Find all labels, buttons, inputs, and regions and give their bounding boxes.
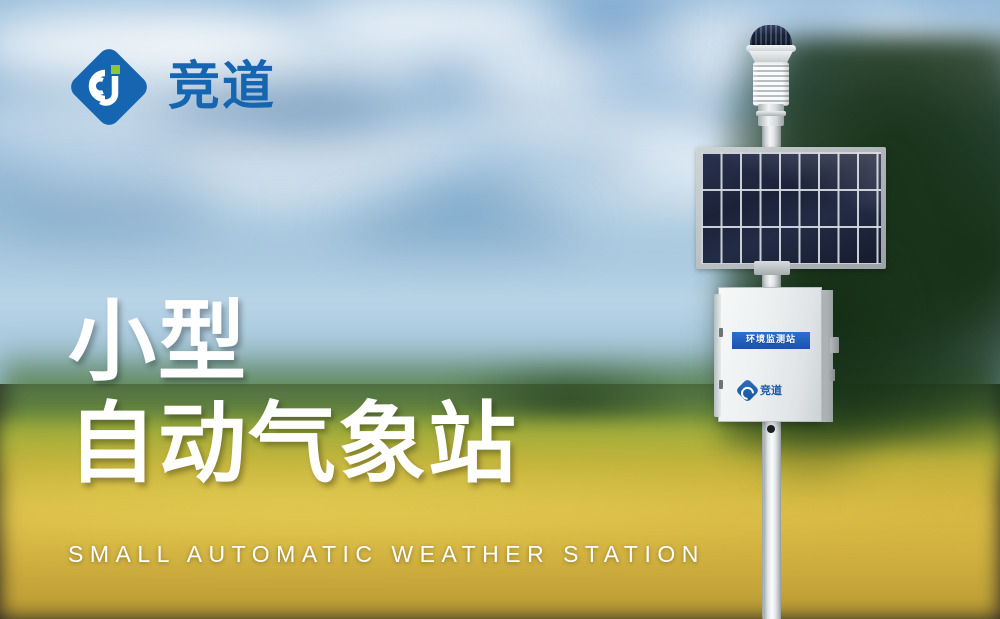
enclosure-front-panel: 环境监测站 竞道	[718, 287, 822, 422]
solar-panel-gloss	[701, 152, 881, 264]
headline-line-1: 小型	[68, 296, 518, 388]
logo-cj-glyph	[68, 46, 150, 128]
cloud-shadow	[560, 8, 660, 43]
control-enclosure: 环境监测站 竞道	[718, 287, 836, 422]
cloud-shadow	[340, 200, 580, 246]
solar-panel-mount	[754, 261, 790, 275]
cloud-shadow	[580, 61, 700, 96]
jingdao-diamond-logo	[68, 46, 150, 128]
weather-station-product: 环境监测站 竞道	[690, 25, 890, 619]
enclosure-latch	[830, 337, 839, 353]
radiation-shield-louvers	[753, 62, 789, 106]
enclosure-hinge-lip	[714, 294, 721, 417]
enclosure-brand: 竞道	[739, 380, 805, 400]
cloud-shadow	[0, 184, 220, 230]
sensor-dome	[750, 25, 792, 47]
sensor-dome-rim	[746, 45, 796, 52]
mounting-pole-lower	[764, 415, 781, 619]
enclosure-screw	[719, 328, 723, 337]
enclosure-banner-label: 环境监测站	[732, 332, 810, 349]
ultrasonic-weather-sensor	[742, 25, 800, 131]
solar-panel-frame	[696, 147, 886, 269]
sensor-clamp	[756, 111, 786, 116]
solar-panel-cells	[701, 152, 881, 264]
product-banner: 环境监测站 竞道 竞	[0, 0, 1000, 619]
enclosure-cable-gland	[767, 425, 775, 433]
headline-line-2: 自动气象站	[68, 398, 518, 490]
jingdao-diamond-logo-small	[735, 378, 759, 402]
brand-logo[interactable]: 竞道	[68, 46, 276, 128]
subtitle-text: SMALL AUTOMATIC WEATHER STATION	[68, 541, 705, 568]
enclosure-screw	[719, 380, 723, 389]
enclosure-brand-label: 竞道	[760, 382, 782, 398]
enclosure-latch	[828, 369, 835, 381]
headline-block: 小型 自动气象站	[68, 296, 518, 489]
enclosure-side-panel	[821, 290, 833, 422]
brand-logo-text: 竞道	[168, 61, 276, 113]
solar-panel	[696, 147, 886, 269]
